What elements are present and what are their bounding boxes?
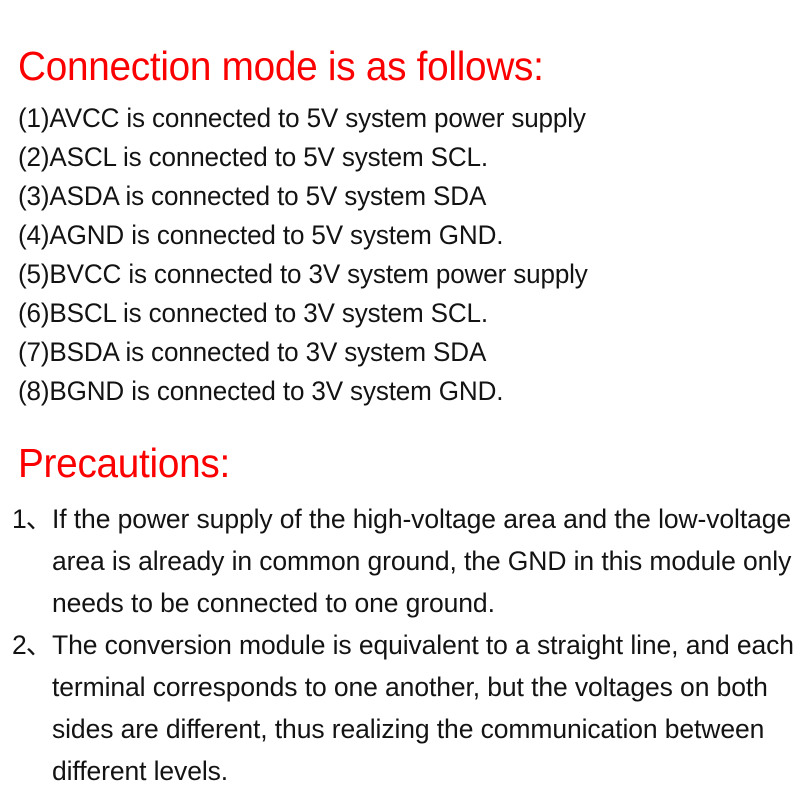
connection-mode-list: (1)AVCC is connected to 5V system power …: [18, 99, 778, 411]
connection-list-item: (5)BVCC is connected to 3V system power …: [18, 255, 751, 294]
connection-list-item: (8)BGND is connected to 3V system GND.: [18, 372, 751, 411]
precautions-heading: Precautions:: [18, 443, 230, 484]
connection-mode-heading: Connection mode is as follows:: [18, 46, 544, 87]
connection-list-item: (6)BSCL is connected to 3V system SCL.: [18, 294, 751, 333]
connection-list-item: (1)AVCC is connected to 5V system power …: [18, 99, 751, 138]
precautions-item-text: If the power supply of the high-voltage …: [52, 498, 794, 624]
precautions-item-text: The conversion module is equivalent to a…: [52, 624, 794, 792]
precautions-list-item: 1、 If the power supply of the high-volta…: [12, 498, 794, 624]
precautions-item-marker: 2、: [12, 624, 52, 666]
connection-list-item: (2)ASCL is connected to 5V system SCL.: [18, 138, 751, 177]
precautions-list: 1、 If the power supply of the high-volta…: [12, 498, 794, 792]
document-page: Connection mode is as follows: (1)AVCC i…: [0, 0, 800, 800]
connection-list-item: (4)AGND is connected to 5V system GND.: [18, 216, 751, 255]
connection-list-item: (7)BSDA is connected to 3V system SDA: [18, 333, 751, 372]
precautions-item-marker: 1、: [12, 498, 52, 540]
precautions-list-item: 2、 The conversion module is equivalent t…: [12, 624, 794, 792]
connection-list-item: (3)ASDA is connected to 5V system SDA: [18, 177, 751, 216]
